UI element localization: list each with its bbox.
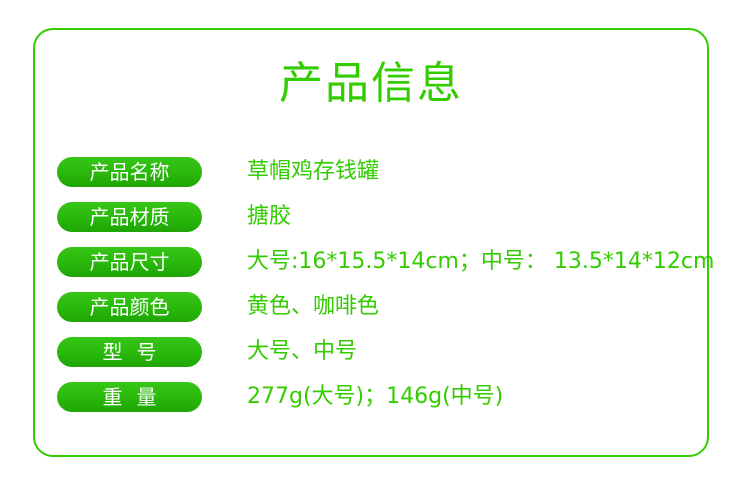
- spec-label-material: 产品材质: [57, 202, 202, 232]
- spec-label-weight: 重量: [57, 382, 202, 412]
- spec-value-color: 黄色、咖啡色: [247, 290, 379, 324]
- spec-value-weight: 277g(大号)；146g(中号): [247, 380, 503, 414]
- product-info-card: 产品信息 产品名称 草帽鸡存钱罐 产品材质 搪胶 产品尺寸 大号:16*15.5…: [33, 28, 709, 457]
- spec-label-model: 型号: [57, 337, 202, 367]
- spec-value-model: 大号、中号: [247, 335, 357, 369]
- page-title: 产品信息: [35, 58, 707, 110]
- spec-value-size: 大号:16*15.5*14cm；中号： 13.5*14*12cm: [247, 245, 714, 279]
- spec-value-product-name: 草帽鸡存钱罐: [247, 155, 379, 189]
- spec-list: 产品名称 草帽鸡存钱罐 产品材质 搪胶 产品尺寸 大号:16*15.5*14cm…: [57, 155, 697, 425]
- product-info-screen: 产品信息 产品名称 草帽鸡存钱罐 产品材质 搪胶 产品尺寸 大号:16*15.5…: [0, 0, 750, 486]
- spec-row-material: 产品材质 搪胶: [57, 200, 697, 245]
- spec-row-size: 产品尺寸 大号:16*15.5*14cm；中号： 13.5*14*12cm: [57, 245, 697, 290]
- spec-label-color: 产品颜色: [57, 292, 202, 322]
- spec-row-weight: 重量 277g(大号)；146g(中号): [57, 380, 697, 425]
- spec-label-product-name: 产品名称: [57, 157, 202, 187]
- spec-label-size: 产品尺寸: [57, 247, 202, 277]
- spec-row-product-name: 产品名称 草帽鸡存钱罐: [57, 155, 697, 200]
- spec-value-material: 搪胶: [247, 200, 291, 234]
- spec-row-color: 产品颜色 黄色、咖啡色: [57, 290, 697, 335]
- spec-row-model: 型号 大号、中号: [57, 335, 697, 380]
